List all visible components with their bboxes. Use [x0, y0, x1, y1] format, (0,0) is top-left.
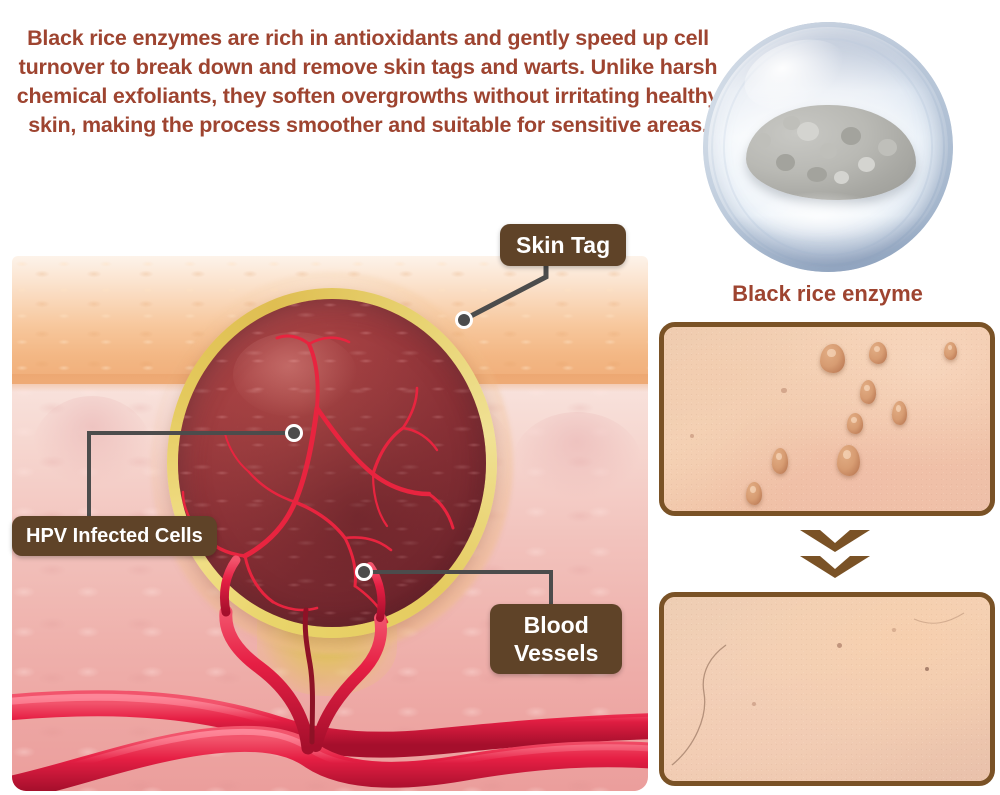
hpv-marker-dot[interactable]: [285, 424, 303, 442]
sphere-rim: [703, 22, 953, 272]
callout-blood-vessels-line2: Vessels: [514, 639, 598, 667]
glass-sphere-icon: [703, 22, 953, 272]
headline-text: Black rice enzymes are rich in antioxida…: [0, 24, 736, 140]
blood-vessels-marker-dot[interactable]: [355, 563, 373, 581]
skin-tag-marker-dot[interactable]: [455, 311, 473, 329]
after-skin-hair: [664, 597, 995, 786]
callout-skin-tag[interactable]: Skin Tag: [500, 224, 626, 266]
callout-blood-vessels[interactable]: Blood Vessels: [490, 604, 622, 674]
ingredient-caption: Black rice enzyme: [655, 281, 1000, 307]
callout-hpv-infected-cells[interactable]: HPV Infected Cells: [12, 516, 217, 556]
after-photo: [659, 592, 995, 786]
before-photo: [659, 322, 995, 516]
callout-blood-vessels-line1: Blood: [514, 611, 598, 639]
black-rice-enzyme-sphere-image: [703, 22, 953, 272]
double-chevron-down-icon: [800, 530, 870, 586]
